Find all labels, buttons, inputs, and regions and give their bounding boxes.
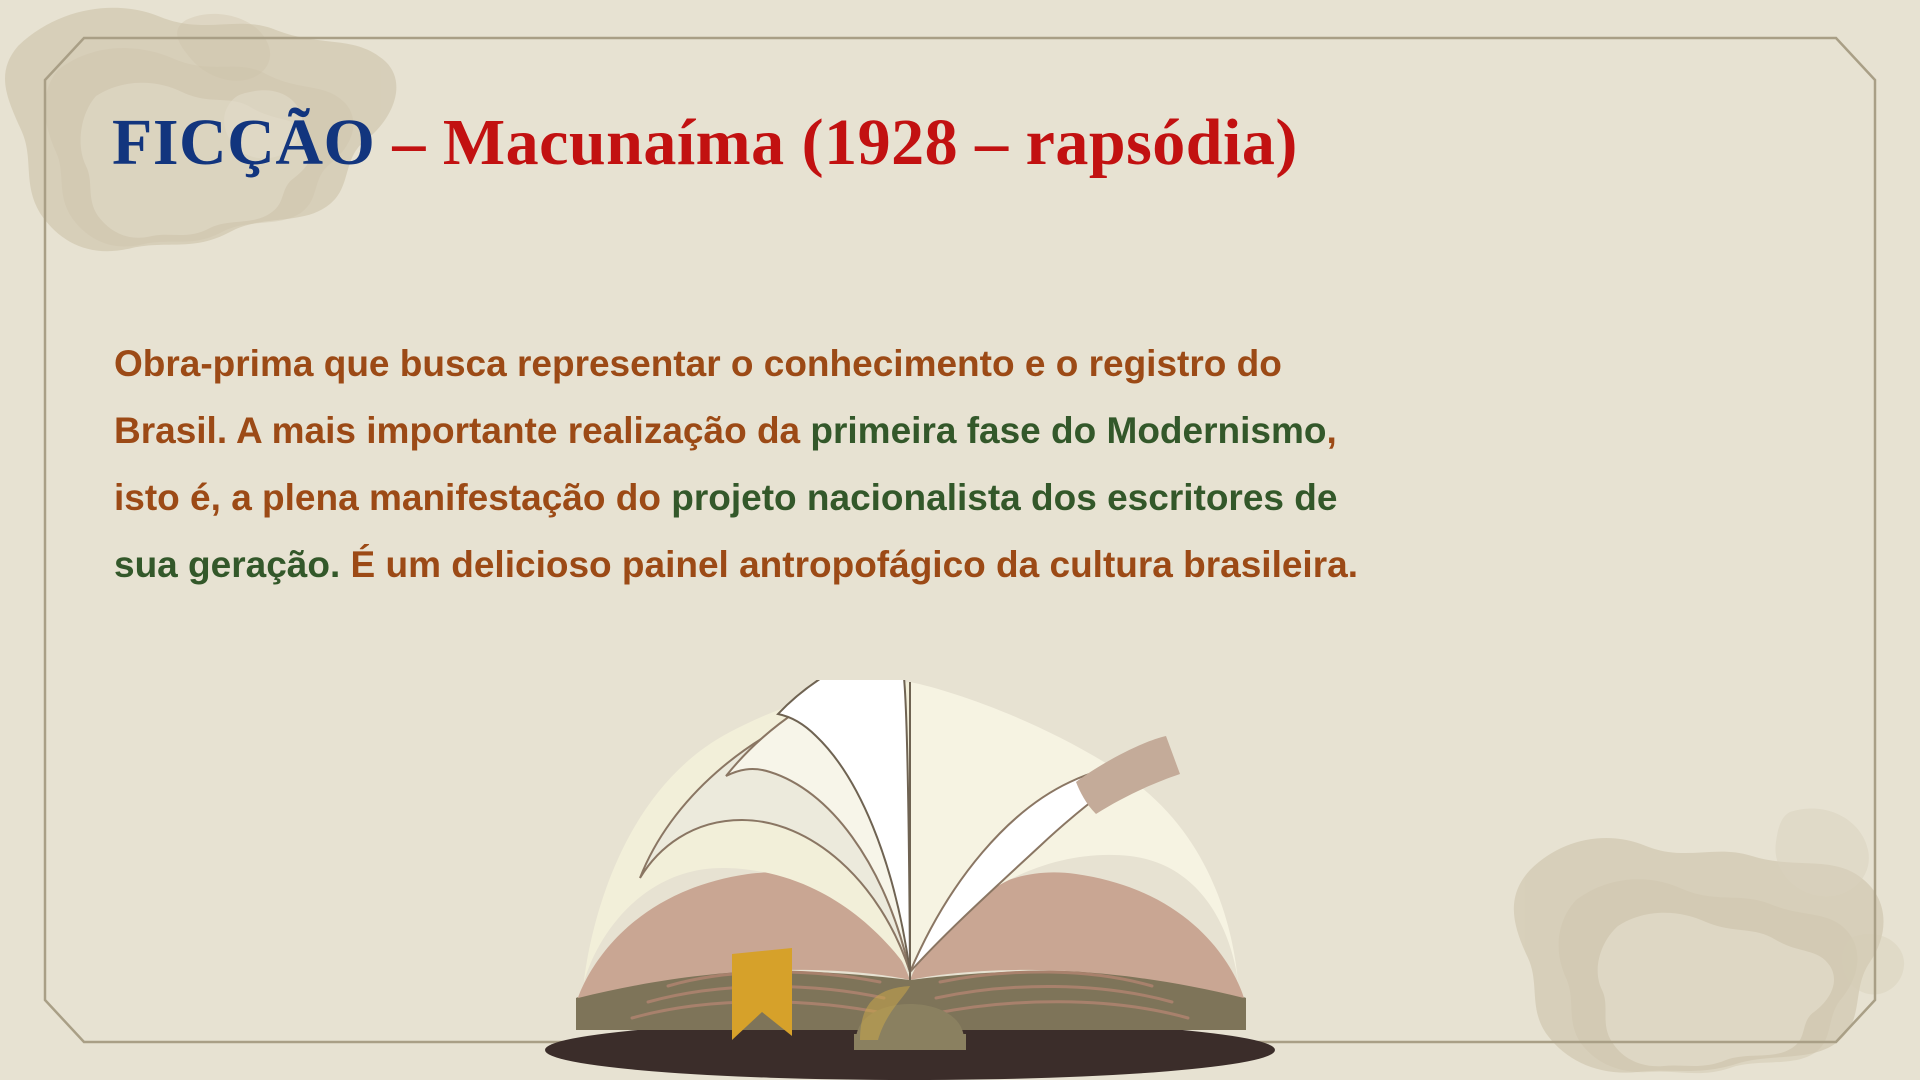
body-line-3: isto é, a plena manifestação do projeto … xyxy=(114,464,1804,531)
body-paragraph: Obra-prima que busca representar o conhe… xyxy=(114,330,1804,598)
title-separator: – xyxy=(375,106,443,179)
body-line-2-segment-comma: , xyxy=(1326,410,1336,451)
body-line-2: Brasil. A mais importante realização da … xyxy=(114,397,1804,464)
title-category: FICÇÃO xyxy=(112,106,375,179)
body-line-4: sua geração. É um delicioso painel antro… xyxy=(114,531,1804,598)
body-line-2-segment-brown: Brasil. A mais importante realização da xyxy=(114,410,810,451)
body-line-3-segment-brown: isto é, a plena manifestação do xyxy=(114,477,671,518)
open-book-icon xyxy=(480,680,1340,1080)
body-line-3-segment-green: projeto nacionalista dos escritores de xyxy=(671,477,1337,518)
body-line-2-segment-green: primeira fase do Modernismo xyxy=(810,410,1326,451)
page-title: FICÇÃO – Macunaíma (1928 – rapsódia) xyxy=(112,108,1812,177)
body-line-4-segment-brown: É um delicioso painel antropofágico da c… xyxy=(340,544,1358,585)
watercolor-stain-bottom-right xyxy=(1490,750,1920,1080)
body-line-4-segment-green: sua geração. xyxy=(114,544,340,585)
title-work: Macunaíma (1928 – rapsódia) xyxy=(443,106,1298,179)
body-line-1-text: Obra-prima que busca representar o conhe… xyxy=(114,343,1282,384)
slide-canvas: FICÇÃO – Macunaíma (1928 – rapsódia) Obr… xyxy=(0,0,1920,1080)
body-line-1: Obra-prima que busca representar o conhe… xyxy=(114,330,1804,397)
